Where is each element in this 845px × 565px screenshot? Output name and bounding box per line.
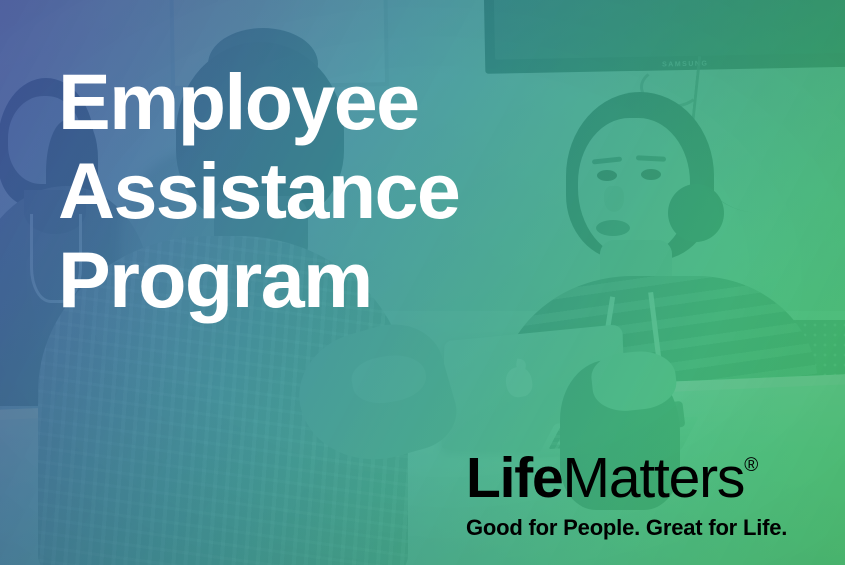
headline-line-3: Program <box>58 235 459 324</box>
registered-trademark-icon: ® <box>744 455 758 476</box>
banner-content: Employee Assistance Program LifeMatters®… <box>0 0 845 565</box>
lifematters-wordmark: LifeMatters® <box>466 437 814 507</box>
logo-tagline: Good for People. Great for Life. <box>466 515 814 541</box>
lifematters-logo: LifeMatters® Good for People. Great for … <box>466 437 814 541</box>
page-title: Employee Assistance Program <box>58 57 459 324</box>
headline-line-2: Assistance <box>58 146 459 235</box>
wordmark-matters: Matters <box>563 446 745 510</box>
eap-banner: SAMSUNG <box>0 0 845 565</box>
headline-line-1: Employee <box>58 57 459 146</box>
wordmark-life: Life <box>466 446 563 510</box>
